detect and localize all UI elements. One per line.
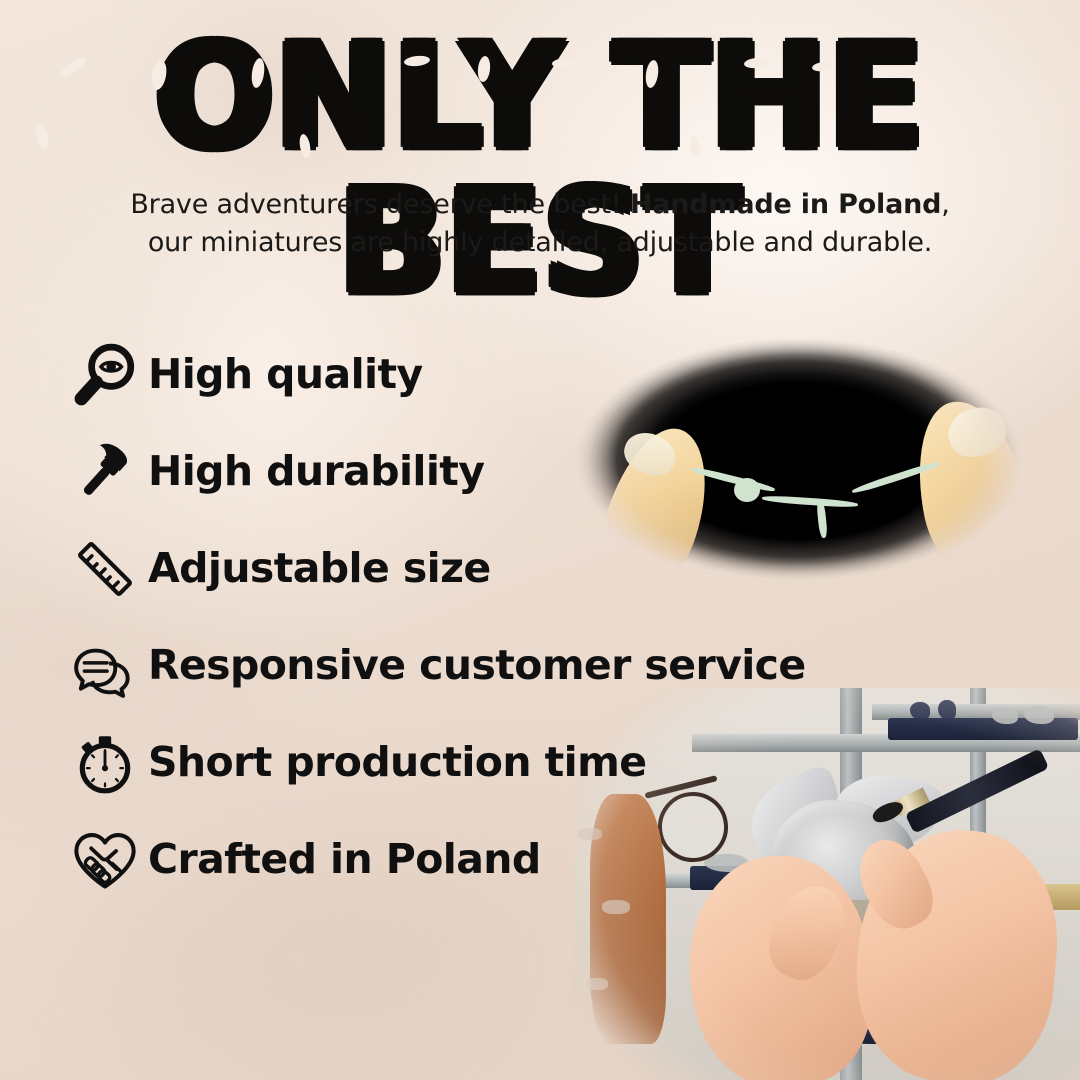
feature-label: Crafted in Poland xyxy=(148,839,541,880)
promotional-poster: ONLY THE BEST Brave adventurers deserve … xyxy=(0,0,1080,1080)
speech-bubbles-icon xyxy=(62,625,148,707)
ruler-icon xyxy=(62,528,148,610)
page-title: ONLY THE BEST xyxy=(0,25,1080,315)
miniature-on-shelf xyxy=(992,708,1018,724)
heart-handshake-icon xyxy=(62,819,148,901)
torn-edge-speck xyxy=(586,978,608,990)
feature-item-adjustable-size: Adjustable size xyxy=(62,520,782,617)
feature-item-high-durability: High durability xyxy=(62,423,782,520)
stopwatch-icon xyxy=(62,722,148,804)
feature-item-high-quality: High quality xyxy=(62,326,782,423)
miniature-on-shelf xyxy=(910,702,930,720)
feature-item-production-time: Short production time xyxy=(62,714,782,811)
subtitle-emphasis: Handmade in Poland xyxy=(630,189,941,220)
miniature-on-shelf xyxy=(938,700,956,720)
hammer-icon xyxy=(62,431,148,513)
feature-label: Short production time xyxy=(148,742,646,783)
subtitle-line-1: Brave adventurers deserve the best! Hand… xyxy=(0,186,1080,224)
torn-edge-speck xyxy=(988,571,1018,586)
subtitle-line-2: our miniatures are highly detailed, adju… xyxy=(0,224,1080,262)
miniature-on-shelf xyxy=(1024,706,1054,724)
feature-label: Responsive customer service xyxy=(148,645,806,686)
subtitle-tail: , xyxy=(941,189,949,220)
feature-item-crafted-in-poland: Crafted in Poland xyxy=(62,811,782,908)
feature-list: High quality High durability xyxy=(62,326,782,908)
feature-label: Adjustable size xyxy=(148,548,491,589)
subtitle-lead: Brave adventurers deserve the best! xyxy=(130,189,630,220)
feature-item-customer-service: Responsive customer service xyxy=(62,617,782,714)
feature-label: High durability xyxy=(148,451,484,492)
subtitle: Brave adventurers deserve the best! Hand… xyxy=(0,186,1080,263)
feature-label: High quality xyxy=(148,354,423,395)
magnifier-eye-icon xyxy=(62,334,148,416)
